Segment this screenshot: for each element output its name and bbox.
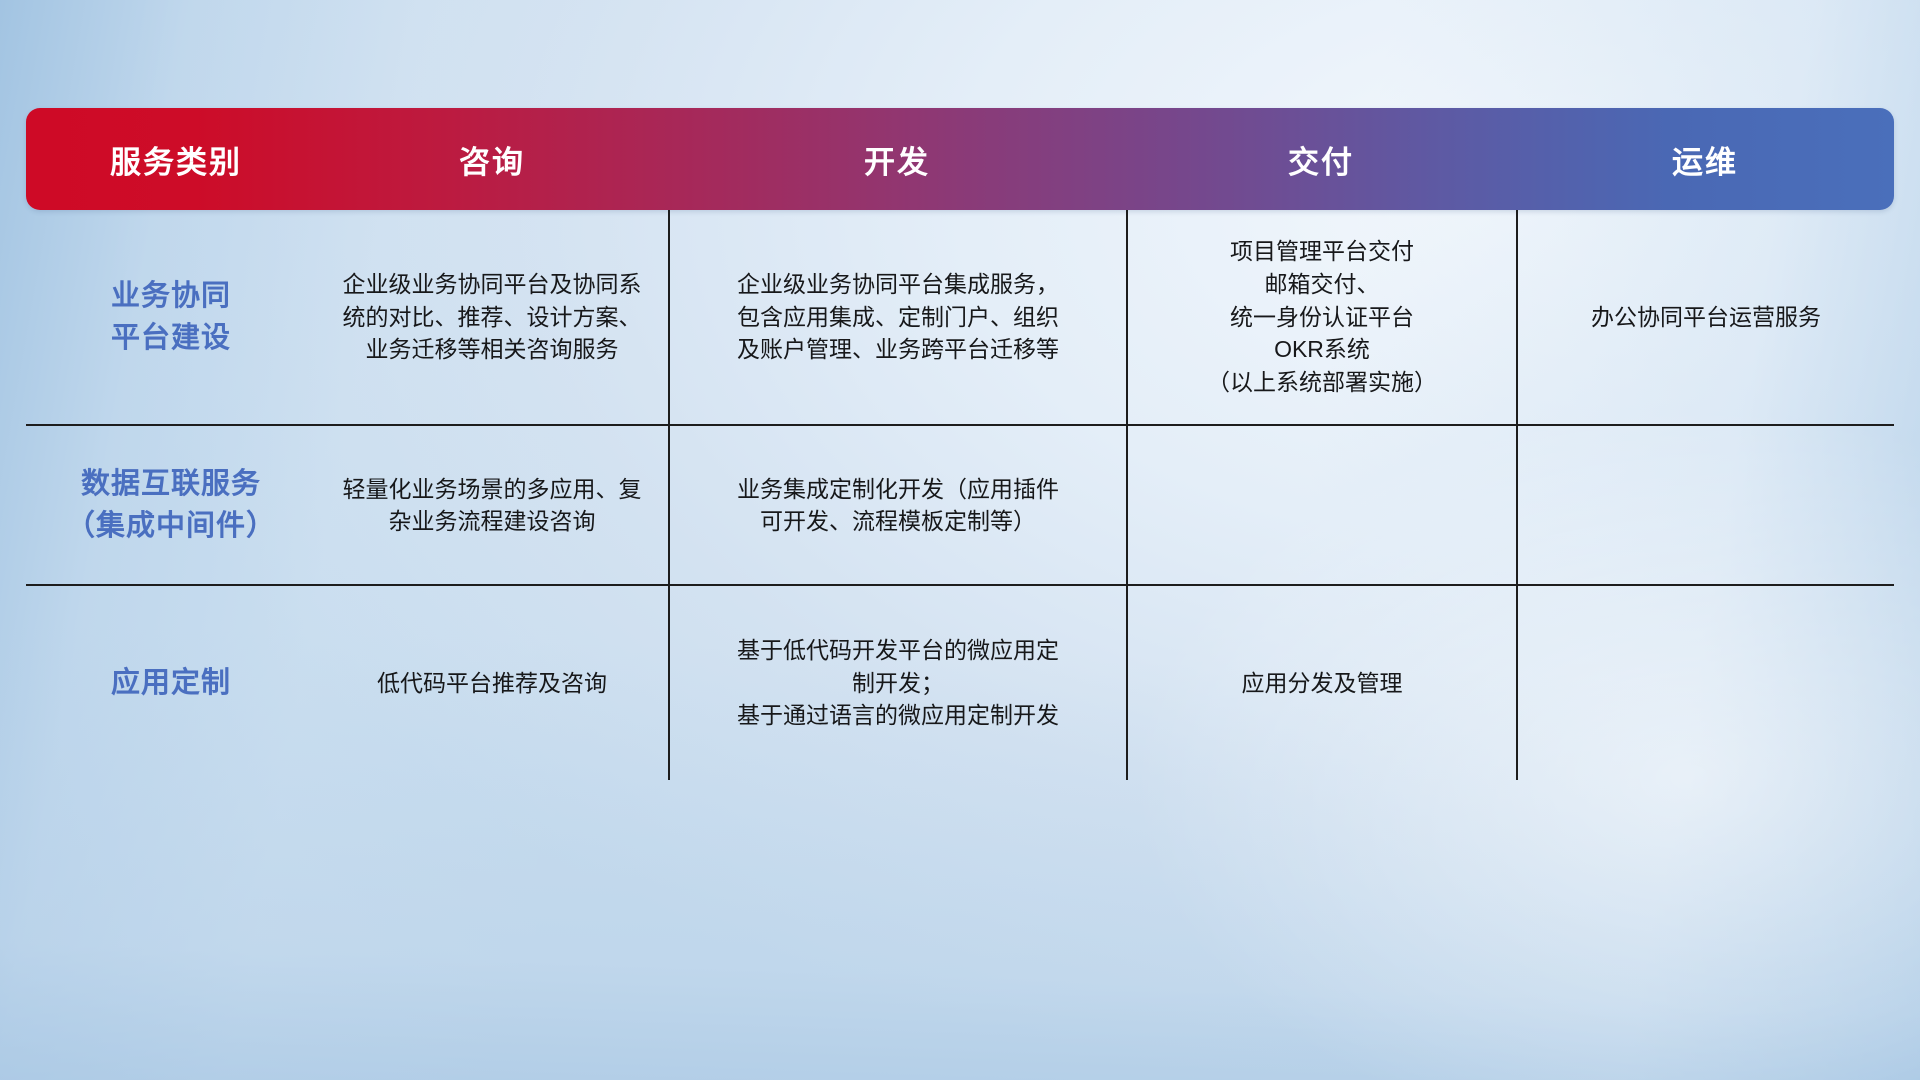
cell-row1-consulting: 企业级业务协同平台及协同系 统的对比、推荐、设计方案、 业务迁移等相关咨询服务	[316, 210, 668, 424]
row-label-data-interconnection-service: 数据互联服务 （集成中间件）	[26, 426, 316, 584]
column-header-service-category: 服务类别	[26, 108, 316, 210]
table-header-row: 服务类别 咨询 开发 交付 运维	[26, 108, 1894, 210]
column-header-development: 开发	[668, 108, 1126, 210]
row-label-business-collaboration-platform: 业务协同 平台建设	[26, 210, 316, 424]
row-label-application-customization: 应用定制	[26, 586, 316, 780]
cell-row1-operations: 办公协同平台运营服务	[1516, 210, 1894, 424]
table-body: 业务协同 平台建设 企业级业务协同平台及协同系 统的对比、推荐、设计方案、 业务…	[26, 210, 1894, 780]
cell-row1-development: 企业级业务协同平台集成服务， 包含应用集成、定制门户、组织 及账户管理、业务跨平…	[668, 210, 1126, 424]
cell-row2-delivery	[1126, 426, 1516, 584]
cell-row3-operations	[1516, 586, 1894, 780]
table-row: 业务协同 平台建设 企业级业务协同平台及协同系 统的对比、推荐、设计方案、 业务…	[26, 210, 1894, 424]
cell-row3-consulting: 低代码平台推荐及咨询	[316, 586, 668, 780]
table-row: 数据互联服务 （集成中间件） 轻量化业务场景的多应用、复 杂业务流程建设咨询 业…	[26, 424, 1894, 584]
cell-row3-development: 基于低代码开发平台的微应用定 制开发； 基于通过语言的微应用定制开发	[668, 586, 1126, 780]
cell-row3-delivery: 应用分发及管理	[1126, 586, 1516, 780]
column-header-delivery: 交付	[1126, 108, 1516, 210]
cell-row2-consulting: 轻量化业务场景的多应用、复 杂业务流程建设咨询	[316, 426, 668, 584]
table-row: 应用定制 低代码平台推荐及咨询 基于低代码开发平台的微应用定 制开发； 基于通过…	[26, 584, 1894, 780]
cell-row2-operations	[1516, 426, 1894, 584]
column-header-consulting: 咨询	[316, 108, 668, 210]
service-matrix-table: 服务类别 咨询 开发 交付 运维 业务协同 平台建设 企业级业务协同平台及协同系…	[26, 108, 1894, 780]
cell-row1-delivery: 项目管理平台交付 邮箱交付、 统一身份认证平台 OKR系统 （以上系统部署实施）	[1126, 210, 1516, 424]
column-header-operations: 运维	[1516, 108, 1894, 210]
cell-row2-development: 业务集成定制化开发（应用插件 可开发、流程模板定制等）	[668, 426, 1126, 584]
